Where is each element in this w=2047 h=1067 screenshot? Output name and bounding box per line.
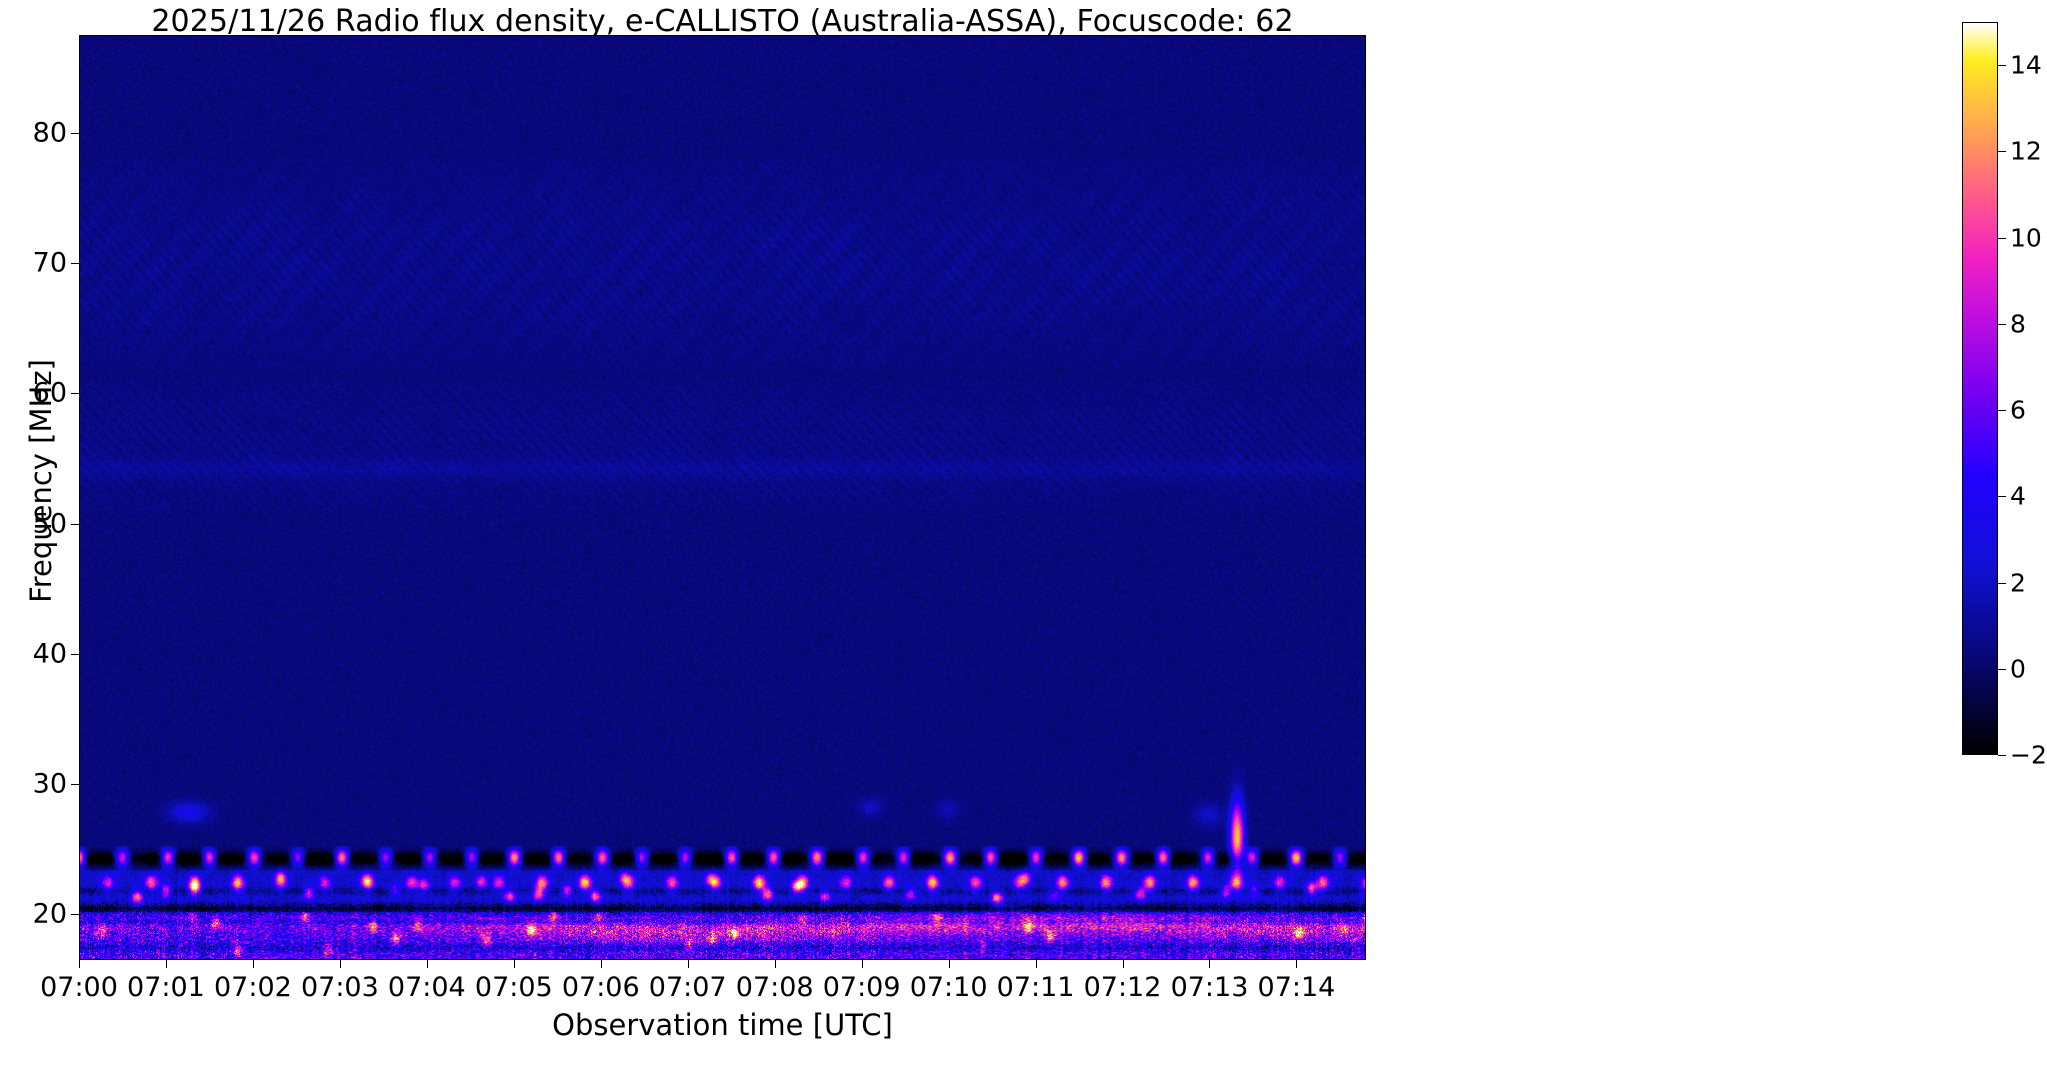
colorbar-tick-mark (1998, 410, 2006, 411)
x-tick-label: 07:13 (1171, 972, 1249, 1003)
colorbar-tick-mark (1998, 238, 2006, 239)
colorbar (1962, 22, 1998, 755)
y-tick-mark (71, 654, 79, 655)
x-tick-mark (688, 960, 689, 968)
colorbar-tick-label: 8 (2010, 309, 2026, 338)
colorbar-tick-label: 6 (2010, 396, 2026, 425)
x-tick-label: 07:14 (1258, 972, 1336, 1003)
figure-canvas: 2025/11/26 Radio flux density, e-CALLIST… (0, 0, 2047, 1067)
x-tick-mark (514, 960, 515, 968)
x-tick-mark (775, 960, 776, 968)
x-tick-label: 07:05 (475, 972, 553, 1003)
colorbar-ticks: 14121086420−2 (1998, 22, 2047, 755)
colorbar-gradient (1963, 23, 1997, 754)
x-tick-label: 07:04 (388, 972, 466, 1003)
x-tick-label: 07:01 (127, 972, 205, 1003)
x-tick-mark (862, 960, 863, 968)
x-axis-label: Observation time [UTC] (79, 1008, 1366, 1042)
colorbar-tick-label: 10 (2010, 223, 2042, 252)
x-tick-mark (1036, 960, 1037, 968)
colorbar-tick-mark (1998, 65, 2006, 66)
colorbar-tick-label: 12 (2010, 137, 2042, 166)
colorbar-tick-label: 2 (2010, 568, 2026, 597)
x-tick-label: 07:00 (40, 972, 118, 1003)
colorbar-tick-mark (1998, 324, 2006, 325)
y-tick-mark (71, 524, 79, 525)
page-title: 2025/11/26 Radio flux density, e-CALLIST… (79, 4, 1366, 39)
y-tick-mark (71, 784, 79, 785)
x-tick-mark (340, 960, 341, 968)
x-tick-label: 07:12 (1084, 972, 1162, 1003)
x-tick-mark (427, 960, 428, 968)
x-axis-ticks: 07:0007:0107:0207:0307:0407:0507:0607:07… (79, 960, 1366, 1010)
y-axis-label: Frequency [MHz] (24, 51, 58, 911)
x-tick-mark (253, 960, 254, 968)
x-tick-mark (79, 960, 80, 968)
colorbar-tick-label: 4 (2010, 482, 2026, 511)
x-tick-label: 07:09 (823, 972, 901, 1003)
x-tick-mark (166, 960, 167, 968)
colorbar-tick-label: 14 (2010, 51, 2042, 80)
x-tick-label: 07:08 (736, 972, 814, 1003)
spectrogram-axes[interactable] (79, 35, 1366, 960)
y-tick-mark (71, 133, 79, 134)
x-tick-label: 07:06 (562, 972, 640, 1003)
colorbar-tick-mark (1998, 669, 2006, 670)
x-tick-mark (949, 960, 950, 968)
spectrogram-image (80, 36, 1365, 959)
colorbar-tick-mark (1998, 583, 2006, 584)
x-tick-label: 07:07 (649, 972, 727, 1003)
y-tick-mark (71, 914, 79, 915)
x-tick-label: 07:03 (301, 972, 379, 1003)
colorbar-tick-label: 0 (2010, 654, 2026, 683)
x-tick-label: 07:02 (214, 972, 292, 1003)
colorbar-tick-mark (1998, 496, 2006, 497)
y-tick-mark (71, 263, 79, 264)
colorbar-tick-label: −2 (2010, 741, 2047, 770)
x-tick-label: 07:11 (997, 972, 1075, 1003)
x-tick-mark (1296, 960, 1297, 968)
colorbar-tick-mark (1998, 755, 2006, 756)
x-tick-mark (601, 960, 602, 968)
spectrogram-pixels (80, 36, 1365, 959)
x-tick-mark (1209, 960, 1210, 968)
colorbar-tick-mark (1998, 151, 2006, 152)
x-tick-mark (1123, 960, 1124, 968)
x-tick-label: 07:10 (910, 972, 988, 1003)
y-tick-mark (71, 393, 79, 394)
